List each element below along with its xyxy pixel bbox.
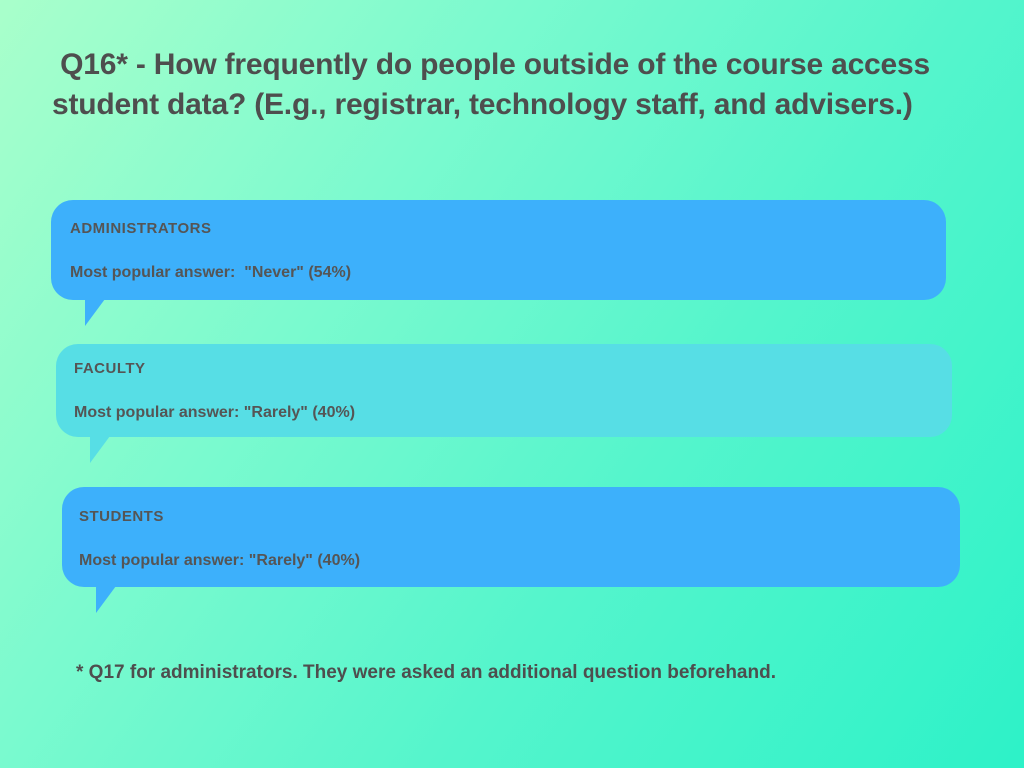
page-title-line-2: student data? (E.g., registrar, technolo…: [52, 85, 972, 125]
group-label-students: STUDENTS: [79, 508, 164, 525]
speech-bubble-faculty: FACULTY Most popular answer: "Rarely" (4…: [56, 344, 952, 437]
slide-canvas: Q16* - How frequently do people outside …: [0, 0, 1024, 768]
speech-bubble-students: STUDENTS Most popular answer: "Rarely" (…: [62, 487, 960, 587]
speech-bubble-administrators: ADMINISTRATORS Most popular answer: "Nev…: [51, 200, 946, 300]
answer-text-students: Most popular answer: "Rarely" (40%): [79, 552, 360, 570]
group-label-faculty: FACULTY: [74, 360, 146, 377]
speech-bubble-tail-students: [96, 586, 116, 613]
group-label-administrators: ADMINISTRATORS: [70, 220, 211, 237]
page-title-line-1: Q16* - How frequently do people outside …: [52, 45, 972, 85]
page-title: Q16* - How frequently do people outside …: [52, 45, 972, 124]
speech-bubble-tail-faculty: [90, 436, 110, 463]
answer-text-administrators: Most popular answer: "Never" (54%): [70, 264, 351, 282]
speech-bubble-tail-administrators: [85, 299, 105, 326]
answer-text-faculty: Most popular answer: "Rarely" (40%): [74, 404, 355, 422]
footnote: * Q17 for administrators. They were aske…: [76, 662, 776, 684]
